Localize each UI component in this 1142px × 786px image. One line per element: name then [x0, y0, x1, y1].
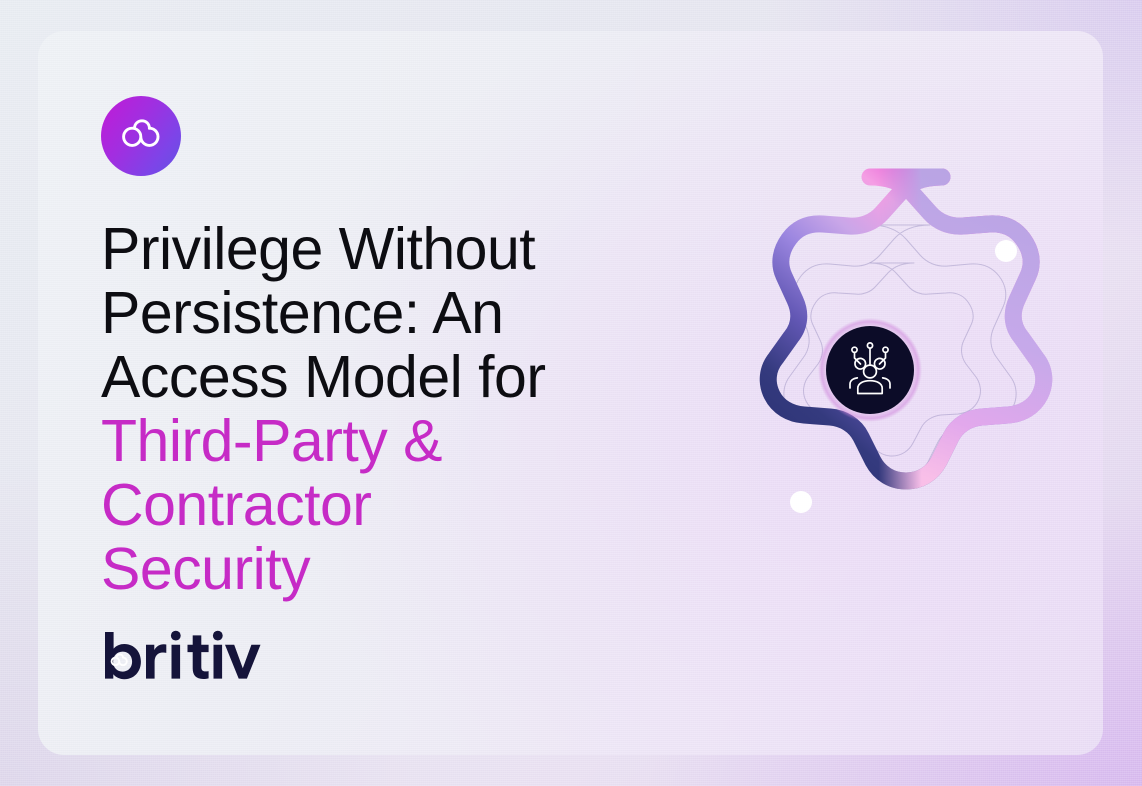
content-column: Privilege Without Persistence: An Access…	[101, 96, 661, 601]
gear-node-dot-top-right	[995, 240, 1017, 262]
headline-line-1: Privilege Without	[101, 216, 535, 282]
britive-infinity-cloud-icon	[118, 119, 164, 153]
headline-accent-line-1: Third-Party &	[101, 408, 442, 474]
headline-accent-line-2: Contractor	[101, 472, 371, 538]
britive-wordmark	[101, 630, 263, 682]
social-card: Privilege Without Persistence: An Access…	[0, 0, 1142, 786]
page-title: Privilege Without Persistence: An Access…	[101, 217, 661, 601]
britive-logo-mark	[101, 96, 181, 176]
headline-line-3: Access Model for	[101, 344, 546, 410]
headline-accent-line-3: Security	[101, 536, 310, 602]
gear-node-dot-lower-left	[790, 491, 812, 513]
headline-line-2: Persistence: An	[101, 280, 503, 346]
gear-outline-illustration	[655, 155, 1085, 585]
gear-core-circle	[826, 326, 914, 414]
